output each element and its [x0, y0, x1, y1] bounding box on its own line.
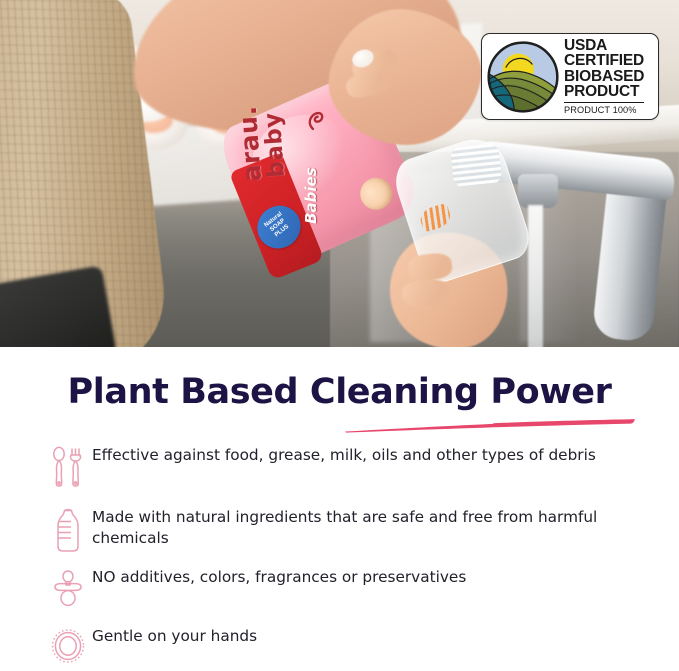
pacifier-icon: [44, 566, 92, 612]
benefits-section: Plant Based Cleaning Power: [0, 347, 679, 664]
usda-divider: [564, 102, 644, 103]
running-water: [528, 205, 543, 347]
baby-bottle-icon: [44, 506, 92, 552]
usda-biobased-logo-icon: [484, 38, 562, 116]
usda-line-4: PRODUCT: [564, 84, 651, 100]
usda-subtitle: PRODUCT 100%: [564, 105, 651, 115]
headline-underline-swoosh: [343, 417, 637, 433]
list-item-label: Effective against food, grease, milk, oi…: [92, 444, 596, 466]
bottle-seal-text: NaturalSOAPPLUS: [258, 207, 298, 244]
teething-ring-icon: [44, 625, 92, 671]
page-title: Plant Based Cleaning Power: [0, 372, 679, 412]
bottle-fish-graphic: [418, 203, 453, 233]
list-item: Effective against food, grease, milk, oi…: [44, 444, 644, 490]
faucet-spout: [518, 174, 558, 208]
list-item-label: NO additives, colors, fragrances or pres…: [92, 566, 466, 588]
list-item: NO additives, colors, fragrances or pres…: [44, 566, 644, 612]
product-feature-card: NaturalSOAPPLUS arau. baby Babies: [0, 0, 679, 664]
bottle-brand-baby: baby: [260, 111, 291, 178]
usda-line-3: BIOBASED: [564, 69, 651, 85]
list-item: Made with natural ingredients that are s…: [44, 506, 644, 552]
usda-line-2: CERTIFIED: [564, 53, 651, 69]
list-item: Gentle on your hands: [44, 625, 644, 671]
benefits-list: Effective against food, grease, milk, oi…: [44, 444, 644, 671]
bottle-label-word: Babies: [302, 167, 320, 224]
usda-badge-text: USDA CERTIFIED BIOBASED PRODUCT PRODUCT …: [562, 38, 658, 116]
spoon-fork-icon: [44, 444, 92, 490]
usda-biobased-badge: USDA CERTIFIED BIOBASED PRODUCT PRODUCT …: [481, 33, 659, 120]
usda-line-1: USDA: [564, 38, 651, 54]
baby-illustration: [354, 171, 399, 216]
hero-photo: NaturalSOAPPLUS arau. baby Babies: [0, 0, 679, 347]
list-item-label: Gentle on your hands: [92, 625, 257, 647]
list-item-label: Made with natural ingredients that are s…: [92, 506, 602, 549]
